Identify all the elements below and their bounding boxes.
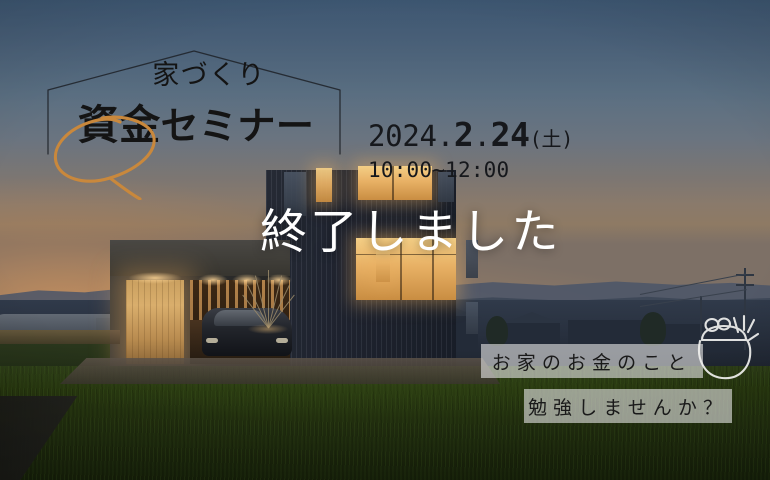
date-year: 2024 [368, 119, 437, 153]
date-separator-1: . [437, 119, 454, 153]
schedule-block: 2024.2.24(土) 10:00~12:00 [368, 118, 573, 186]
coin-purse-icon [694, 314, 766, 390]
handdrawn-circle-highlight [48, 108, 170, 200]
title-kana: セミナー [161, 104, 315, 148]
title-subtext: 家づくり [46, 62, 346, 89]
tagline-badge-1: お家のお金のこと [481, 344, 703, 378]
seminar-date-line: 2024.2.24(土) [368, 118, 573, 153]
seminar-time: 10:00~12:00 [368, 155, 573, 187]
date-weekday: (土) [530, 127, 573, 151]
seminar-banner: 家づくり 資金セミナー 2024.2.24(土) 10:00~12:00 終了し… [0, 0, 770, 480]
date-separator-2: . [473, 119, 490, 153]
status-overlay-text: 終了しました [260, 206, 562, 260]
date-month: 2 [454, 115, 474, 154]
tagline-badge-2: 勉強しませんか？ [524, 389, 732, 423]
date-day: 24 [491, 115, 530, 154]
